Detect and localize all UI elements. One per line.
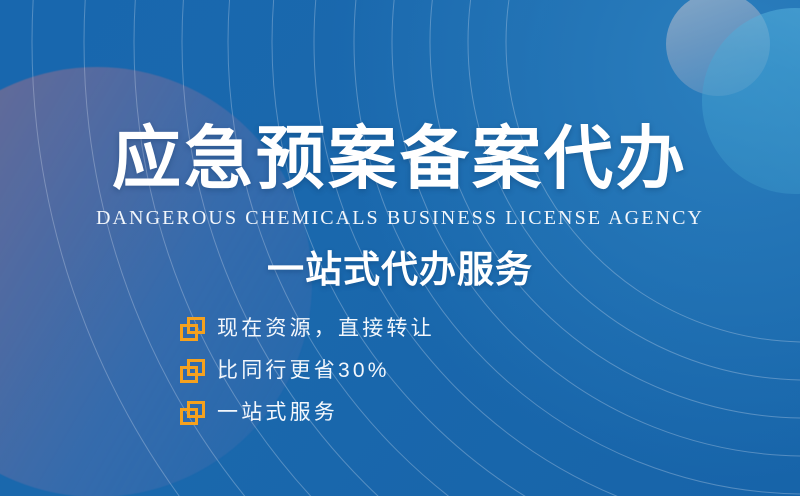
feature-label: 现在资源，直接转让 bbox=[217, 317, 435, 341]
banner-tagline: 一站式代办服务 bbox=[0, 247, 800, 293]
feature-label: 比同行更省30% bbox=[217, 359, 390, 383]
overlapping-squares-icon bbox=[180, 401, 205, 425]
list-item: 一站式服务 bbox=[180, 400, 435, 426]
overlapping-squares-icon bbox=[180, 317, 205, 341]
banner-content: 应急预案备案代办 DANGEROUS CHEMICALS BUSINESS LI… bbox=[0, 0, 800, 496]
list-item: 比同行更省30% bbox=[180, 358, 435, 384]
banner-title: 应急预案备案代办 bbox=[0, 119, 800, 199]
promo-banner: 应急预案备案代办 DANGEROUS CHEMICALS BUSINESS LI… bbox=[0, 0, 800, 496]
feature-list: 现在资源，直接转让 比同行更省30% 一站式服务 bbox=[180, 316, 435, 426]
overlapping-squares-icon bbox=[180, 359, 205, 383]
banner-subtitle-english: DANGEROUS CHEMICALS BUSINESS LICENSE AGE… bbox=[0, 206, 800, 230]
feature-label: 一站式服务 bbox=[217, 401, 338, 425]
list-item: 现在资源，直接转让 bbox=[180, 316, 435, 342]
